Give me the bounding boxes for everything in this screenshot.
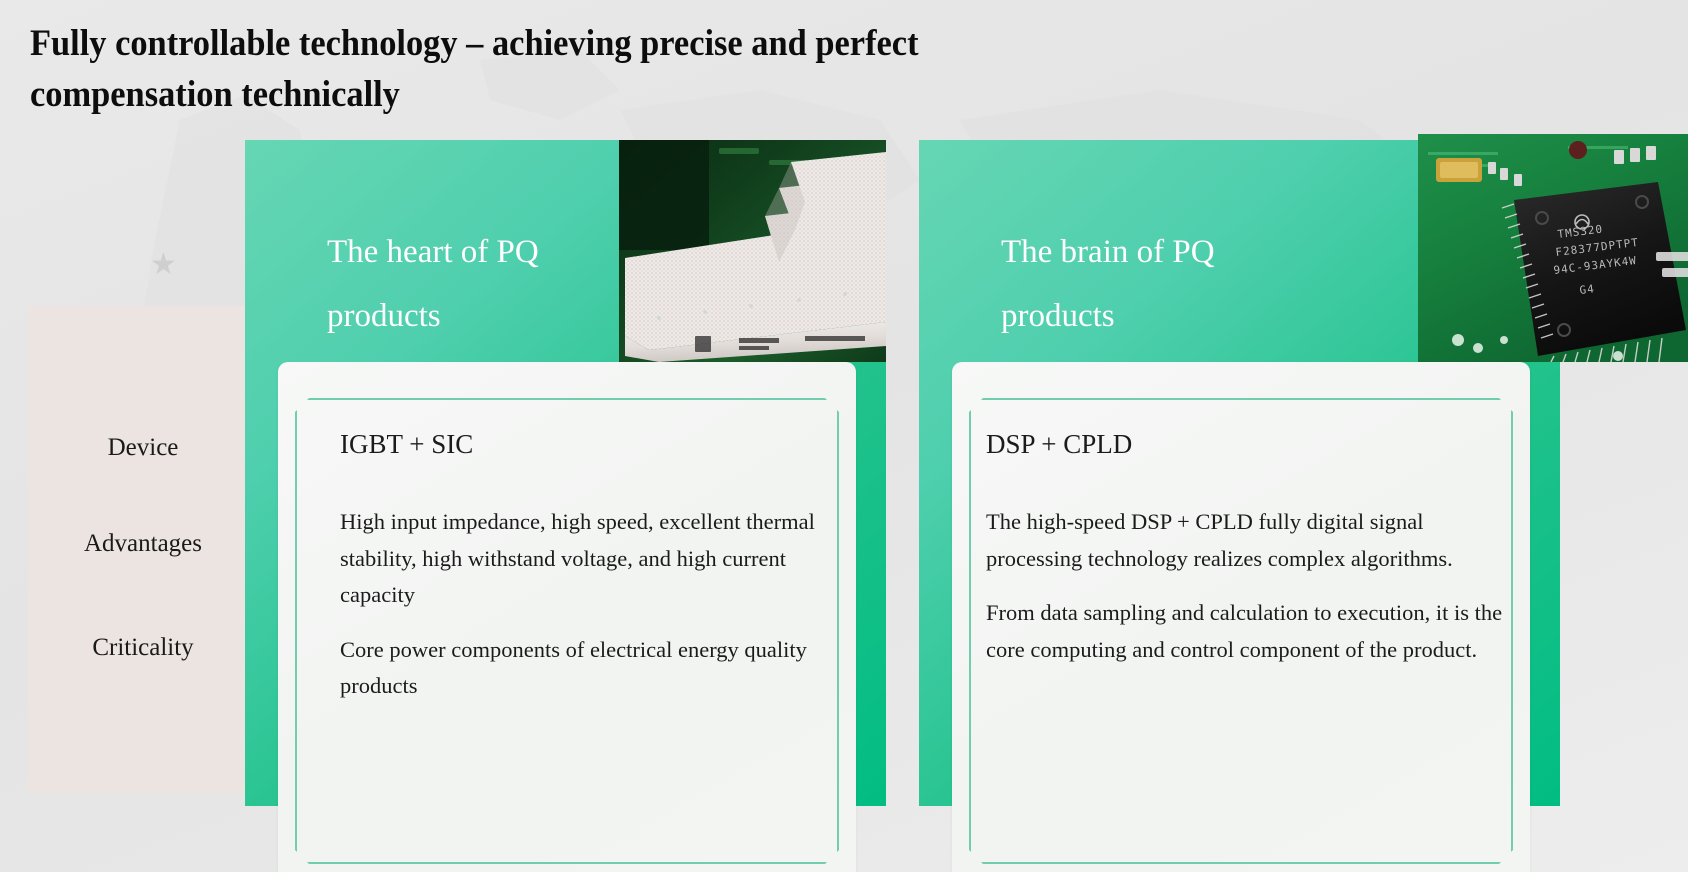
panel-title: IGBT + SIC (340, 428, 816, 460)
rail-item-criticality[interactable]: Criticality (28, 634, 258, 662)
panel-paragraph-advantages: High input impedance, high speed, excell… (340, 504, 816, 613)
panel-paragraph-criticality: Core power components of electrical ener… (340, 632, 816, 705)
panel-paragraph-advantages: The high-speed DSP + CPLD fully digital … (986, 504, 1506, 577)
card-content-body: DSP + CPLD The high-speed DSP + CPLD ful… (986, 428, 1506, 668)
card-heart-of-pq[interactable]: The heart of PQ products IGBT + SIC High… (245, 140, 886, 806)
dsp-chip-photo: TMS320 F28377DPTPT 94C-93AYK4W G4 (1418, 134, 1688, 362)
card-content-panel: IGBT + SIC High input impedance, high sp… (278, 362, 856, 872)
rail-item-device[interactable]: Device (28, 434, 258, 462)
panel-paragraph-criticality: From data sampling and calculation to ex… (986, 595, 1506, 668)
page-title: Fully controllable technology – achievin… (30, 18, 1183, 120)
card-heading: The brain of PQ products (1001, 220, 1301, 349)
star-icon: ★ (150, 250, 177, 280)
slide-canvas: JS ★ Fully controllable technology – ach… (0, 0, 1688, 872)
panel-title: DSP + CPLD (986, 428, 1506, 460)
card-brain-of-pq[interactable]: TMS320 F28377DPTPT 94C-93AYK4W G4 (919, 140, 1560, 806)
rail-item-advantages[interactable]: Advantages (28, 530, 258, 558)
card-content-body: IGBT + SIC High input impedance, high sp… (340, 428, 816, 705)
card-content-panel: DSP + CPLD The high-speed DSP + CPLD ful… (952, 362, 1530, 872)
igbt-module-photo (619, 140, 886, 362)
card-heading: The heart of PQ products (327, 220, 627, 349)
svg-text:G4: G4 (1579, 282, 1596, 297)
